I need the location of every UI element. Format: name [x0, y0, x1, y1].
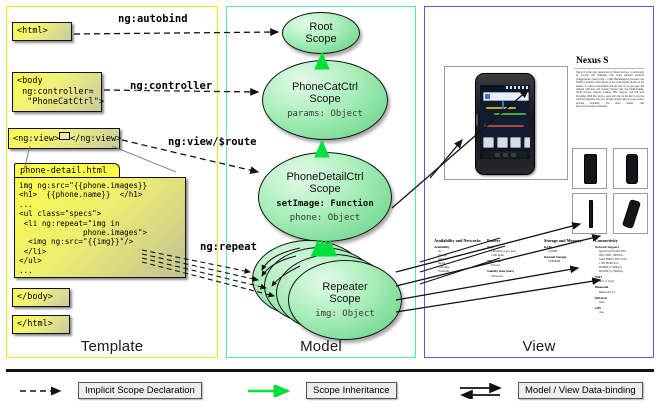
diagram-canvas: Template Model View <html> <body ng:cont…: [0, 0, 660, 420]
spec-value: HSUPA (5.76Mbps): [595, 269, 645, 273]
legend-label-model-view-data-binding: Model / View Data-binding: [518, 382, 643, 399]
phone-side-button: [476, 114, 478, 126]
app-icon-browser: [524, 137, 531, 148]
code-tag-ngview: <ng:view></ng:view>: [8, 128, 120, 149]
spec-table: Availability and Networks Availability 3…: [432, 238, 646, 330]
code-tag-html-open: <html>: [12, 22, 72, 41]
phone-detail-code: img ng:src="{{phone.images}} <h1> {{phon…: [14, 177, 186, 278]
spec-value: 6 hours: [487, 263, 539, 267]
thumbnail-edge-view[interactable]: [572, 193, 607, 234]
code-tag-body-open: <body ng:controller= "PhoneCatCtrl">: [12, 72, 102, 112]
product-title: Nexus S: [576, 56, 608, 66]
spec-column-storage: Storage and Memory RAM 512MB Internal St…: [544, 238, 592, 263]
scope-phonecatctrl-title-line1: PhoneCatCtrl: [292, 81, 358, 94]
label-ng-autobind: ng:autobind: [118, 13, 188, 25]
spec-heading-connectivity: Connectivity: [595, 238, 645, 243]
spec-heading-battery: Battery: [487, 238, 539, 243]
nav-key-apps: [503, 153, 508, 157]
panel-model-label: Model: [227, 338, 415, 355]
thumbnail-back-view[interactable]: [613, 148, 648, 189]
scope-root: Root Scope: [282, 12, 360, 54]
legend-dashed-arrow-icon: [18, 385, 70, 397]
phone-detail-note: phone-detail.html img ng:src="{{phone.im…: [14, 163, 186, 278]
label-ng-repeat: ng:repeat: [200, 241, 257, 253]
legend-item-model-view-data-binding: Model / View Data-binding: [458, 382, 643, 399]
spec-column-battery: Battery Type Lithium Ion (Li-Ion) 1500 m…: [487, 238, 539, 278]
spec-value: 802.11 b/g/n: [595, 279, 645, 283]
scope-phonecatctrl: PhoneCatCtrl Scope params: Object: [262, 60, 388, 140]
legend-divider: [6, 369, 654, 372]
repeater-scope-stack: Repeater Scope img: Object: [252, 240, 402, 338]
nav-key-phone: [495, 153, 500, 157]
scope-repeater-prop-img: img: Object: [315, 309, 375, 320]
scope-phonedetailctrl-prop-phone: phone: Object: [290, 213, 360, 224]
phone-nav-bar: [483, 151, 527, 158]
spec-value: 428 hours: [487, 274, 539, 278]
app-icon-youtube: [510, 137, 521, 148]
app-icon-maps: [497, 137, 508, 148]
legend-item-scope-inheritance: Scope Inheritance: [246, 382, 397, 399]
phone-hero-image: [475, 73, 535, 175]
spec-heading-availability: Availability and Networks: [434, 238, 482, 243]
legend-green-arrow-icon: [246, 385, 298, 397]
legend-bidirectional-arrow-icon: [458, 383, 510, 399]
code-tag-body-close: </body>: [12, 288, 70, 307]
scope-phonedetailctrl-title-line1: PhoneDetailCtrl: [286, 171, 363, 184]
status-bar-icons: [506, 86, 528, 89]
thumb-back-icon: [626, 154, 638, 184]
title-divider: [574, 68, 644, 69]
scope-repeater-title-line1: Repeater: [322, 281, 367, 294]
spec-value: 16384MB: [544, 259, 592, 263]
thumbnail-front-view[interactable]: [572, 148, 607, 189]
scope-phonecatctrl-title-line2: Scope: [309, 93, 340, 106]
rendered-page-mock: Nexus S Nexus S is the next generation o…: [430, 12, 646, 330]
label-ng-view-route: ng:view/$route: [168, 136, 257, 148]
search-icon: [485, 94, 490, 99]
spec-value: 1500 mAh: [487, 253, 539, 257]
scope-phonecatctrl-prop-params: params: Object: [287, 109, 363, 120]
ngview-open-text: <ng:view>: [13, 134, 59, 144]
code-tag-html-close: </html>: [12, 315, 70, 334]
thumb-edge-icon: [589, 200, 593, 228]
legend-label-implicit-scope-declaration: Implicit Scope Declaration: [78, 382, 202, 399]
wallpaper-line-4: [502, 101, 504, 109]
scope-phonedetailctrl-title-line2: Scope: [309, 183, 340, 196]
thumb-front-icon: [584, 154, 597, 184]
spec-value: Bluetooth 2.1: [595, 290, 645, 294]
app-icon-row: [483, 137, 530, 148]
wallpaper-line-2: [494, 113, 526, 115]
app-icon-market: [483, 137, 494, 148]
scope-repeater: Repeater Scope img: Object: [288, 260, 402, 340]
spec-value: true: [595, 310, 645, 314]
spec-value: Vodafone: [434, 269, 482, 273]
nav-key-camera: [511, 153, 516, 157]
ngview-close-text: </ng:view>: [70, 134, 121, 144]
legend-label-scope-inheritance: Scope Inheritance: [306, 382, 397, 399]
scope-phonedetailctrl-prop-setimage: setImage: Function: [276, 199, 374, 210]
spec-heading-storage: Storage and Memory: [544, 238, 592, 243]
spec-value: false: [595, 300, 645, 304]
scope-phonedetailctrl: PhoneDetailCtrl Scope setImage: Function…: [258, 152, 392, 242]
spec-column-availability: Availability and Networks Availability 3…: [434, 238, 482, 273]
panel-template-label: Template: [7, 338, 217, 355]
hero-image-frame: [444, 66, 568, 180]
phone-screen: [480, 85, 530, 159]
phone-detail-filename: phone-detail.html: [20, 166, 107, 176]
spec-value: 512MB: [544, 249, 592, 253]
legend: Implicit Scope Declaration Scope Inherit…: [6, 380, 654, 406]
scope-repeater-title-line2: Scope: [329, 293, 360, 306]
thumbnail-angled-view[interactable]: [613, 193, 648, 234]
legend-item-implicit-scope-declaration: Implicit Scope Declaration: [18, 382, 202, 399]
spec-column-connectivity: Connectivity Network Support Quad-band G…: [595, 238, 645, 314]
view-page-container: Nexus S Nexus S is the next generation o…: [424, 6, 654, 358]
wallpaper-line-1: [486, 107, 516, 109]
scope-root-title-line1: Root: [309, 21, 332, 34]
label-ng-controller: ng:controller: [130, 80, 212, 92]
thumb-angled-icon: [622, 199, 641, 229]
wallpaper-line-3: [484, 125, 524, 127]
search-widget: [483, 92, 529, 101]
scope-root-title-line2: Scope: [305, 33, 336, 46]
product-description: Nexus S is the next generation of Nexus …: [576, 71, 644, 108]
ngview-placeholder-icon: [59, 132, 70, 140]
